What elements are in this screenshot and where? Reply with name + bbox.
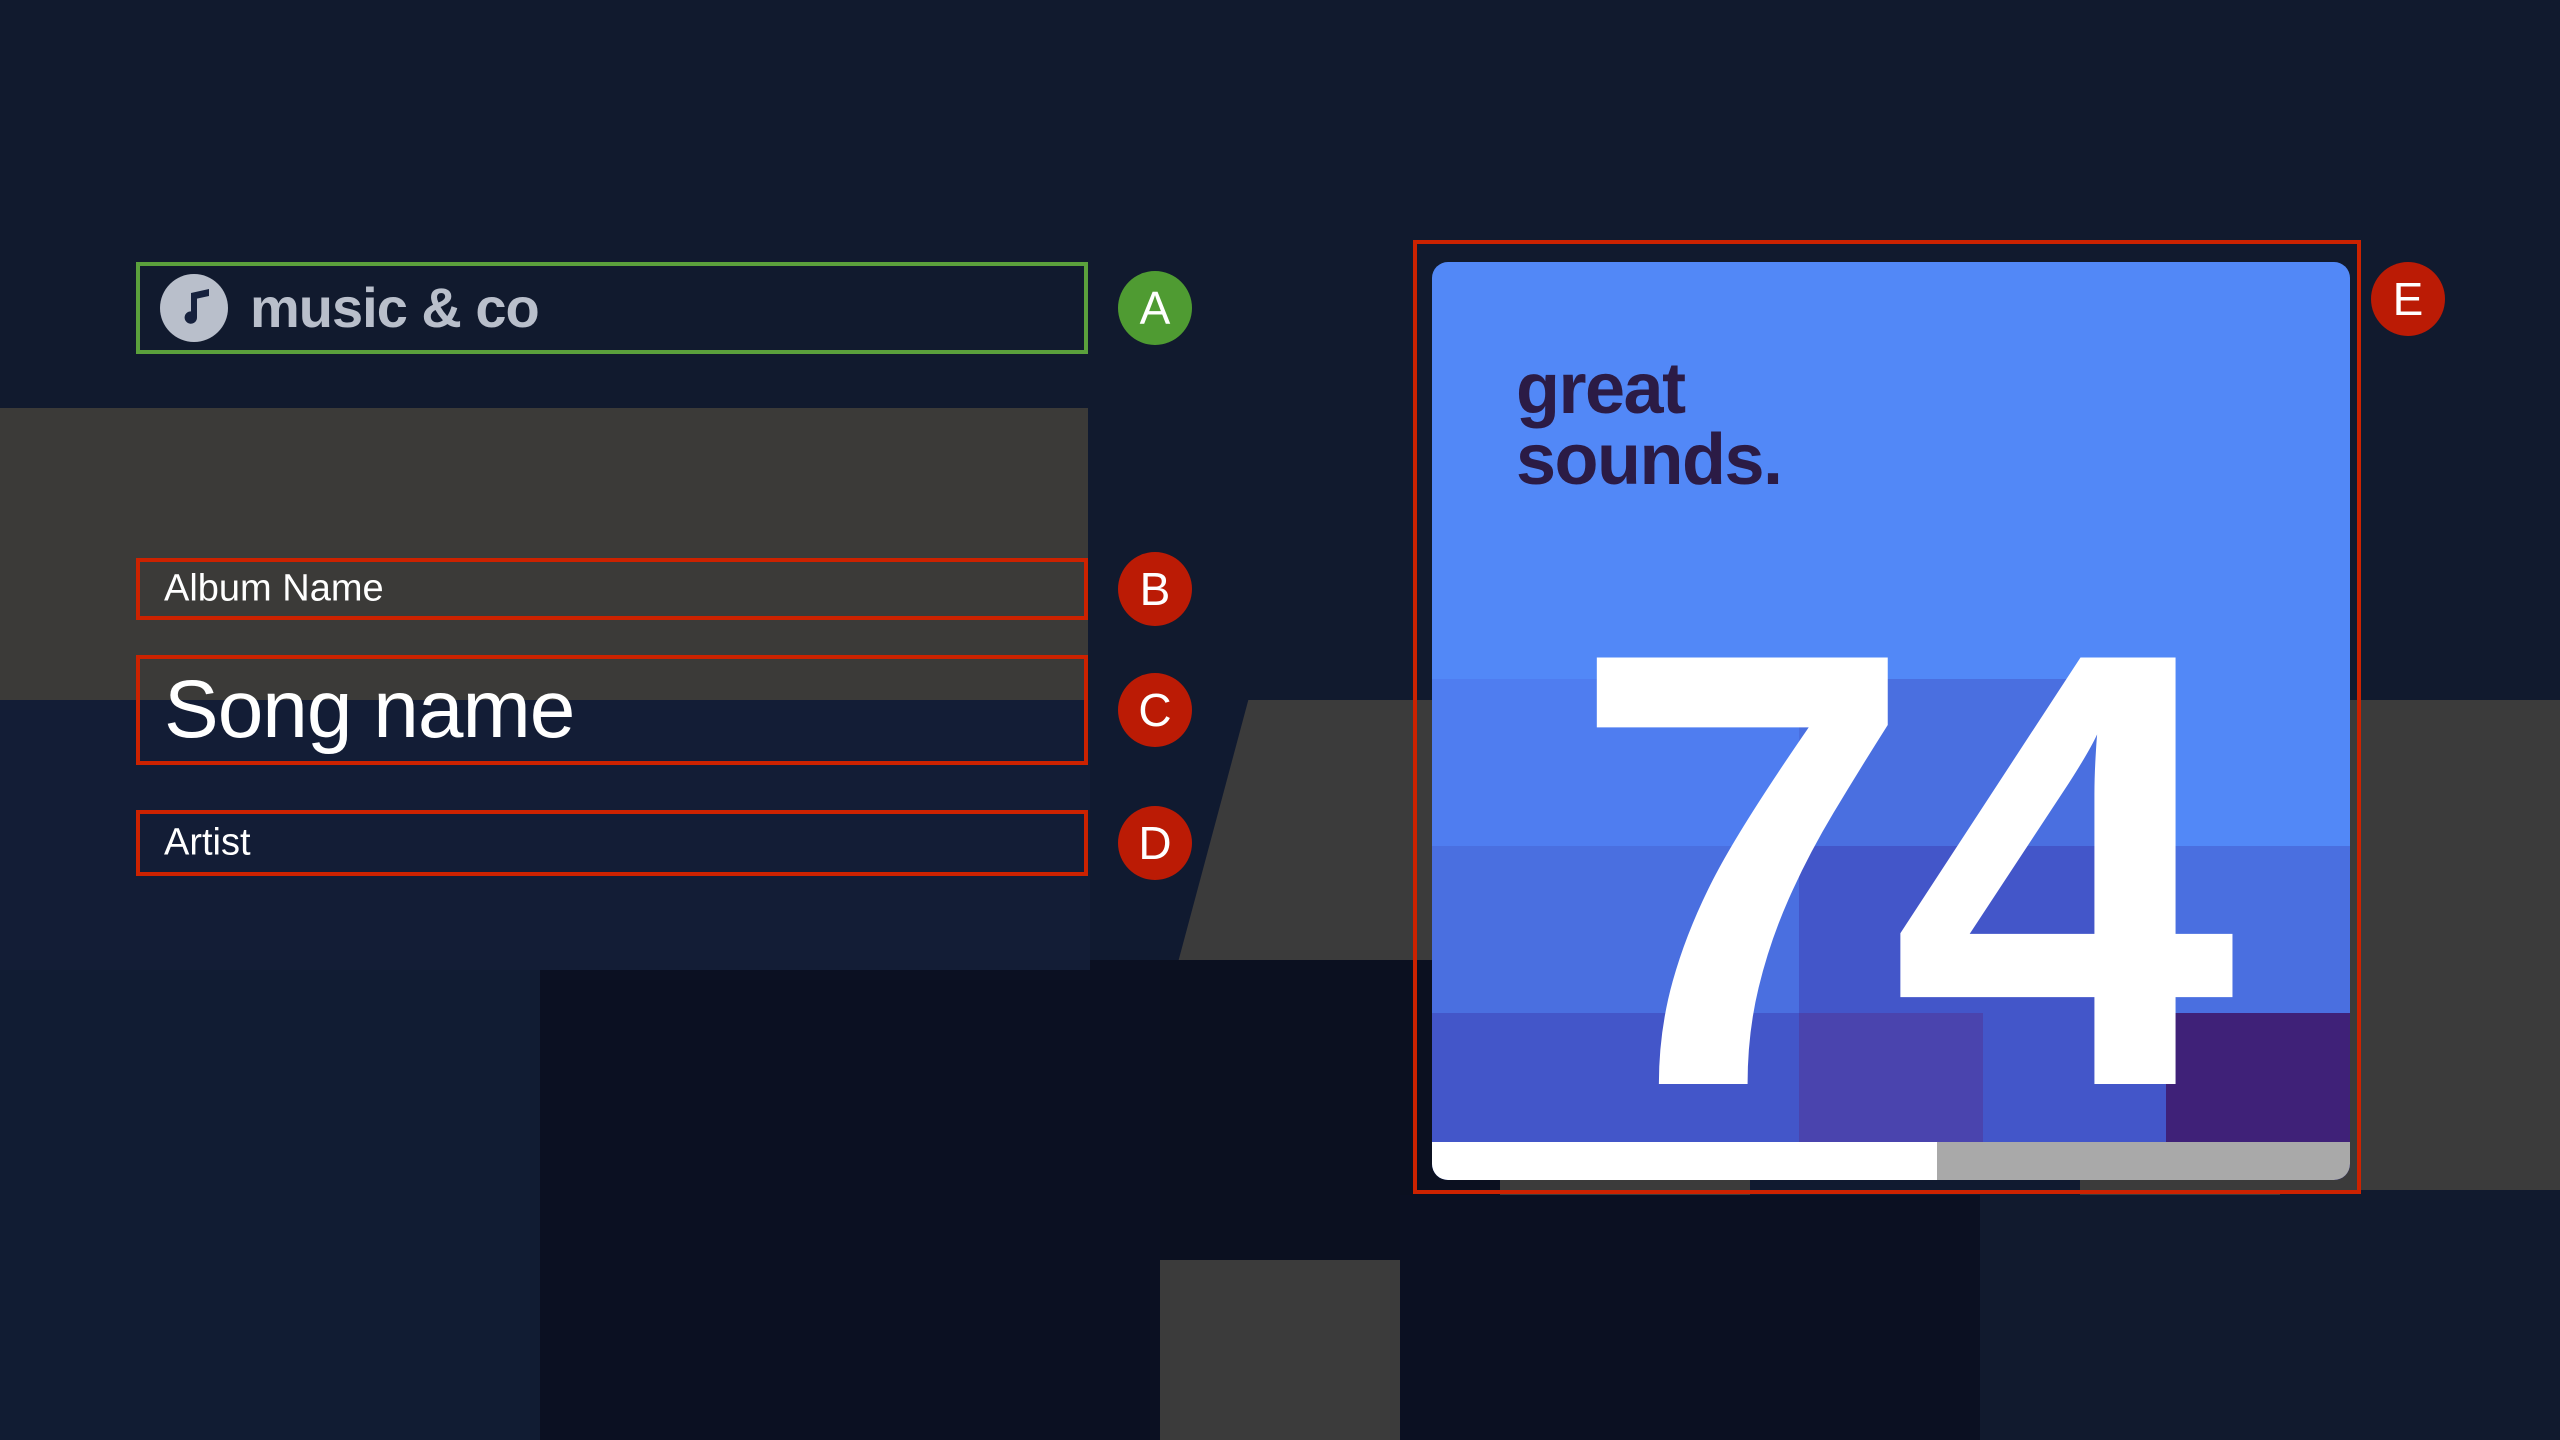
album-art-number: 74 xyxy=(1432,262,2350,1180)
annotation-badge-b: B xyxy=(1118,552,1192,626)
annotation-badge-a: A xyxy=(1118,271,1192,345)
backdrop-plate-dark-a xyxy=(540,960,1160,1440)
playback-progress-fill xyxy=(1432,1142,1937,1180)
backdrop-plate-dark-d xyxy=(1980,1195,2280,1440)
album-art-canvas: great sounds. 74 xyxy=(1432,262,2350,1180)
artist-text: Artist xyxy=(164,822,251,865)
annotation-badge-c: C xyxy=(1118,673,1192,747)
song-name-field[interactable]: Song name xyxy=(136,655,1088,765)
backdrop-plate-navy-e xyxy=(2280,1190,2560,1440)
app-logo-text: music & co xyxy=(250,280,539,336)
music-note-icon xyxy=(160,274,228,342)
annotation-badge-d: D xyxy=(1118,806,1192,880)
playback-progress-bar[interactable] xyxy=(1432,1142,2350,1180)
backdrop-plate-dark-c xyxy=(1400,1195,2000,1440)
artist-field[interactable]: Artist xyxy=(136,810,1088,876)
album-name-field[interactable]: Album Name xyxy=(136,558,1088,620)
song-name-text: Song name xyxy=(164,663,574,757)
album-art[interactable]: great sounds. 74 xyxy=(1413,240,2361,1194)
album-name-text: Album Name xyxy=(164,568,384,611)
annotation-badge-e: E xyxy=(2371,262,2445,336)
app-logo[interactable]: music & co xyxy=(136,262,1088,354)
